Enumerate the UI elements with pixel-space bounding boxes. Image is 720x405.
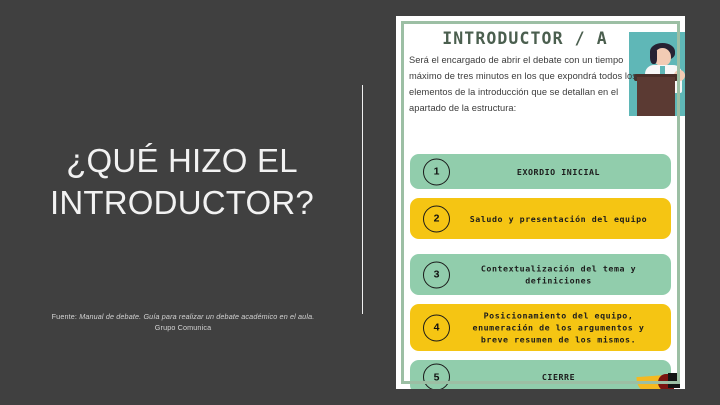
- source-publisher: Grupo Comunica: [155, 323, 211, 332]
- infographic-card: INTRODUCTOR / A Será el encargado de abr…: [396, 16, 685, 389]
- list-item: 3 Contextualización del tema y definicio…: [410, 254, 671, 295]
- corner-decoration-black: [668, 373, 680, 388]
- list-item-label: CIERRE: [456, 371, 661, 383]
- list-item: 1 EXORDIO INICIAL: [410, 154, 671, 189]
- list-item-label: EXORDIO INICIAL: [456, 165, 661, 177]
- list-item: 5 CIERRE: [410, 360, 671, 389]
- vertical-divider: [362, 85, 363, 314]
- presentation-slide: ¿QUÉ HIZO EL INTRODUCTOR? Fuente: Manual…: [0, 0, 720, 405]
- list-item-number: 2: [423, 205, 450, 232]
- illustration-hair-side-icon: [650, 50, 657, 64]
- list-item-label: Contextualización del tema y definicione…: [456, 262, 661, 287]
- slide-left-pane: ¿QUÉ HIZO EL INTRODUCTOR? Fuente: Manual…: [0, 0, 362, 405]
- list-item: 2 Saludo y presentación del equipo: [410, 198, 671, 239]
- list-item: 4 Posicionamiento del equipo, enumeració…: [410, 304, 671, 351]
- list-item-number: 5: [423, 364, 450, 390]
- source-prefix: Fuente:: [52, 312, 80, 321]
- list-item-number: 3: [423, 261, 450, 288]
- list-item-number: 1: [423, 158, 450, 185]
- infographic-card-inner: INTRODUCTOR / A Será el encargado de abr…: [396, 16, 685, 389]
- list-item-label: Posicionamiento del equipo, enumeración …: [456, 309, 661, 346]
- card-title: INTRODUCTOR / A: [410, 29, 640, 48]
- source-title: Manual de debate. Guía para realizar un …: [79, 312, 314, 321]
- list-item-number: 4: [423, 314, 450, 341]
- card-description: Será el encargado de abrir el debate con…: [409, 53, 645, 117]
- list-item-label: Saludo y presentación del equipo: [456, 212, 661, 224]
- page-title: ¿QUÉ HIZO EL INTRODUCTOR?: [10, 140, 354, 224]
- source-citation: Fuente: Manual de debate. Guía para real…: [18, 311, 348, 333]
